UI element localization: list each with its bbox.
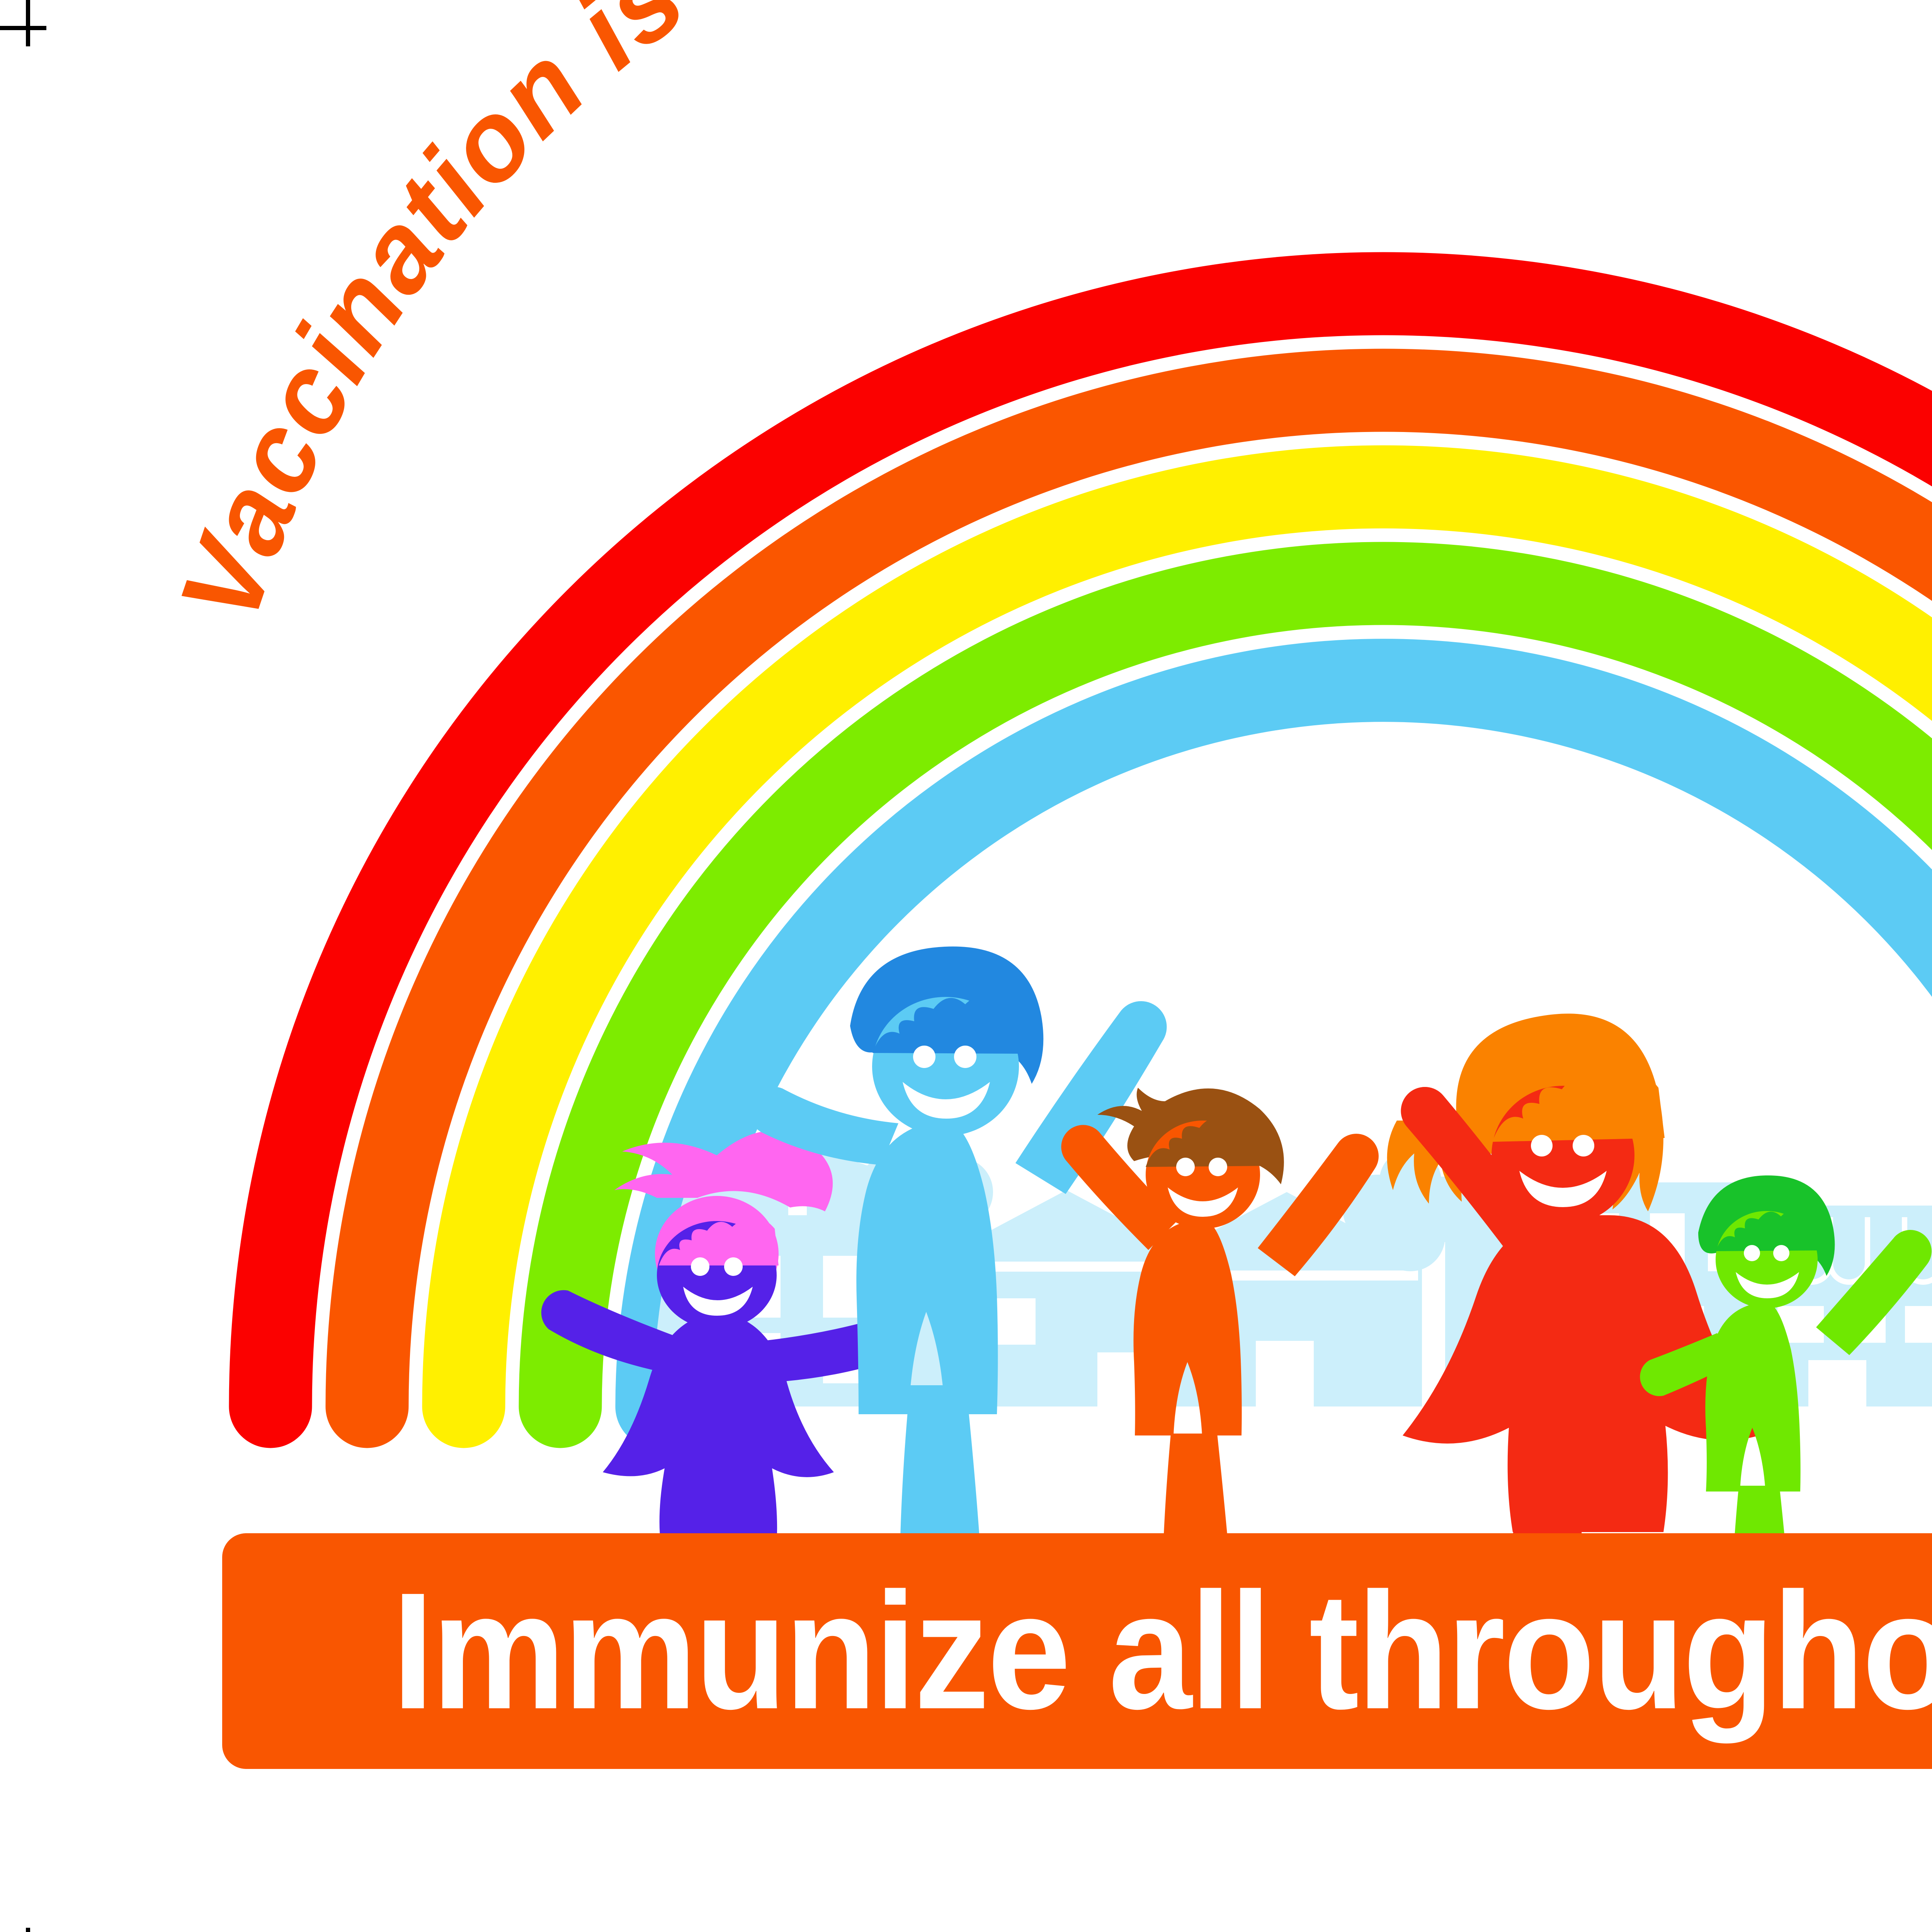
tagline-text: Immunize all throughout life. (392, 1572, 1932, 1730)
poster-canvas: Vaccination is everyone's job, protect y… (0, 0, 1932, 1932)
tagline-banner: Immunize all throughout life. (222, 1533, 1932, 1769)
